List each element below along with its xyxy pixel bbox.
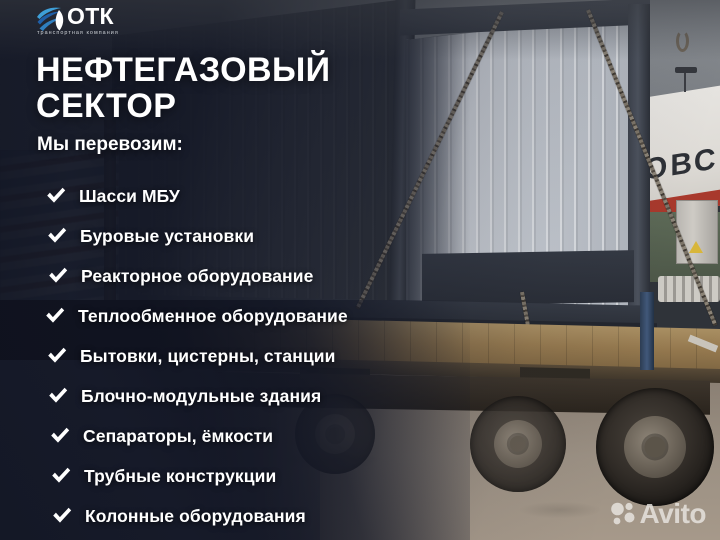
checklist-item-label: Колонные оборудования (85, 506, 306, 526)
banner-content: ОТК транспортная компания НЕФТЕГАЗОВЫЙ С… (0, 0, 720, 540)
checklist-item-label: Бытовки, цистерны, станции (80, 346, 336, 366)
avito-watermark: Avito (610, 500, 706, 528)
checklist-item-label: Блочно-модульные здания (81, 386, 321, 406)
avito-dots-icon (610, 501, 636, 527)
check-icon (46, 225, 68, 247)
checklist-item: Реакторное оборудование (0, 256, 460, 296)
check-icon (47, 265, 69, 287)
checklist-item: Буровые установки (0, 216, 460, 256)
checklist-item: Сепараторы, ёмкости (0, 416, 460, 456)
check-icon (44, 305, 66, 327)
logo-text-block: ОТК транспортная компания (67, 5, 119, 37)
logo-tagline: транспортная компания (37, 29, 119, 37)
check-icon (49, 425, 71, 447)
check-icon (46, 345, 68, 367)
avito-wordmark: Avito (640, 500, 706, 528)
company-logo: ОТК транспортная компания (36, 5, 119, 37)
checklist-item: Колонные оборудования (0, 496, 460, 536)
checklist-item: Бытовки, цистерны, станции (0, 336, 460, 376)
page-title: НЕФТЕГАЗОВЫЙ СЕКТОР (36, 52, 330, 124)
services-checklist: Шасси МБУБуровые установкиРеакторное обо… (0, 176, 460, 536)
check-icon (45, 185, 67, 207)
checklist-item-label: Сепараторы, ёмкости (83, 426, 273, 446)
check-icon (51, 505, 73, 527)
page-subtitle: Мы перевозим: (37, 134, 183, 156)
checklist-item: Блочно-модульные здания (0, 376, 460, 416)
checklist-item: Трубные конструкции (0, 456, 460, 496)
checklist-item-label: Теплообменное оборудование (78, 306, 348, 326)
check-icon (50, 465, 72, 487)
logo-wordmark: ОТК (67, 5, 119, 28)
checklist-item: Шасси МБУ (0, 176, 460, 216)
oil-gas-sector-banner: ОВС (0, 0, 720, 540)
page-title-line-1: НЕФТЕГАЗОВЫЙ (36, 52, 330, 88)
checklist-item: Теплообменное оборудование (0, 296, 460, 336)
checklist-item-label: Реакторное оборудование (81, 266, 313, 286)
checklist-item-label: Буровые установки (80, 226, 254, 246)
checklist-item-label: Трубные конструкции (84, 466, 276, 486)
checklist-item-label: Шасси МБУ (79, 186, 180, 206)
check-icon (47, 385, 69, 407)
page-title-line-2: СЕКТОР (36, 88, 330, 124)
